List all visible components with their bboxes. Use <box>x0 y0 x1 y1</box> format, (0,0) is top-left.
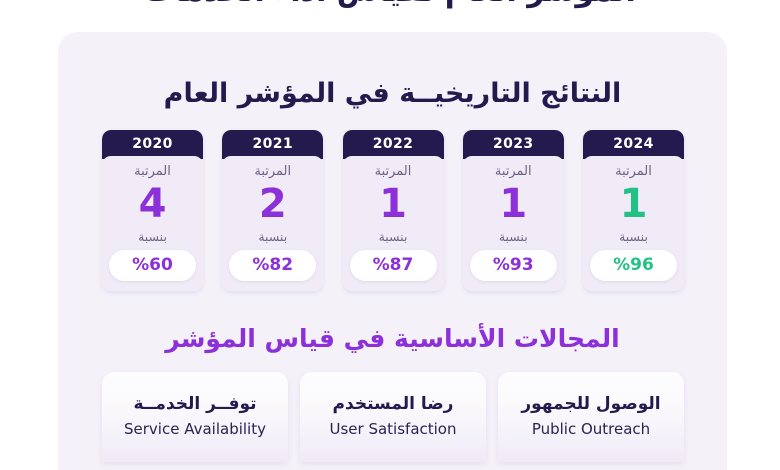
domain-card-user-satisfaction: رضا المستخدم User Satisfaction <box>300 372 486 462</box>
year-body-2023: المرتبة 1 بنسبة %93 <box>463 156 564 291</box>
percent-pill-2021: %82 <box>229 250 316 281</box>
domain-arabic-public-outreach: الوصول للجمهور <box>521 394 660 414</box>
year-header-2023: 2023 <box>463 130 564 159</box>
year-body-2024: المرتبة 1 بنسبة %96 <box>583 156 684 291</box>
percent-label-2022: بنسبة <box>379 229 408 244</box>
domain-english-public-outreach: Public Outreach <box>532 420 650 438</box>
year-cards-row: 2024 المرتبة 1 بنسبة %96 2023 المرتبة 1 … <box>102 130 684 291</box>
year-header-2021: 2021 <box>222 130 323 159</box>
rank-label-2020: المرتبة <box>134 164 171 179</box>
domain-english-user-satisfaction: User Satisfaction <box>330 420 457 438</box>
rank-label-2022: المرتبة <box>375 164 412 179</box>
year-header-2022: 2022 <box>343 130 444 159</box>
year-body-2020: المرتبة 4 بنسبة %60 <box>102 156 203 291</box>
year-header-2020: 2020 <box>102 130 203 159</box>
percent-label-2023: بنسبة <box>499 229 528 244</box>
domain-card-public-outreach: الوصول للجمهور Public Outreach <box>498 372 684 462</box>
percent-label-2021: بنسبة <box>258 229 287 244</box>
historical-results-title: النتائج التاريخيــة في المؤشر العام <box>58 78 727 109</box>
rank-value-2023: 1 <box>499 183 527 225</box>
percent-pill-2020: %60 <box>109 250 196 281</box>
domain-card-service-availability: توفــر الخدمــة Service Availability <box>102 372 288 462</box>
rank-value-2020: 4 <box>139 183 167 225</box>
rank-label-2024: المرتبة <box>615 164 652 179</box>
rank-value-2021: 2 <box>259 183 287 225</box>
year-card-2020: 2020 المرتبة 4 بنسبة %60 <box>102 130 203 291</box>
infographic-panel: النتائج التاريخيــة في المؤشر العام 2024… <box>58 32 727 470</box>
domain-arabic-user-satisfaction: رضا المستخدم <box>333 394 454 414</box>
rank-value-2022: 1 <box>379 183 407 225</box>
core-domains-title: المجالات الأساسية في قياس المؤشر <box>58 324 727 353</box>
year-body-2021: المرتبة 2 بنسبة %82 <box>222 156 323 291</box>
year-card-2022: 2022 المرتبة 1 بنسبة %87 <box>343 130 444 291</box>
rank-label-2023: المرتبة <box>495 164 532 179</box>
rank-label-2021: المرتبة <box>254 164 291 179</box>
percent-pill-2023: %93 <box>470 250 557 281</box>
year-body-2022: المرتبة 1 بنسبة %87 <box>343 156 444 291</box>
year-card-2021: 2021 المرتبة 2 بنسبة %82 <box>222 130 323 291</box>
year-card-2023: 2023 المرتبة 1 بنسبة %93 <box>463 130 564 291</box>
percent-label-2024: بنسبة <box>619 229 648 244</box>
domain-arabic-service-availability: توفــر الخدمــة <box>133 394 256 414</box>
domain-english-service-availability: Service Availability <box>124 420 266 438</box>
year-card-2024: 2024 المرتبة 1 بنسبة %96 <box>583 130 684 291</box>
percent-label-2020: بنسبة <box>138 229 167 244</box>
percent-pill-2022: %87 <box>350 250 437 281</box>
rank-value-2024: 1 <box>620 183 648 225</box>
domain-cards-row: الوصول للجمهور Public Outreach رضا المست… <box>102 372 684 462</box>
year-header-2024: 2024 <box>583 130 684 159</box>
percent-pill-2024: %96 <box>590 250 677 281</box>
cutoff-headline-text: المؤشر العام لقياس أداء الخدمات <box>0 0 780 9</box>
cutoff-headline-strip: المؤشر العام لقياس أداء الخدمات <box>0 0 780 26</box>
